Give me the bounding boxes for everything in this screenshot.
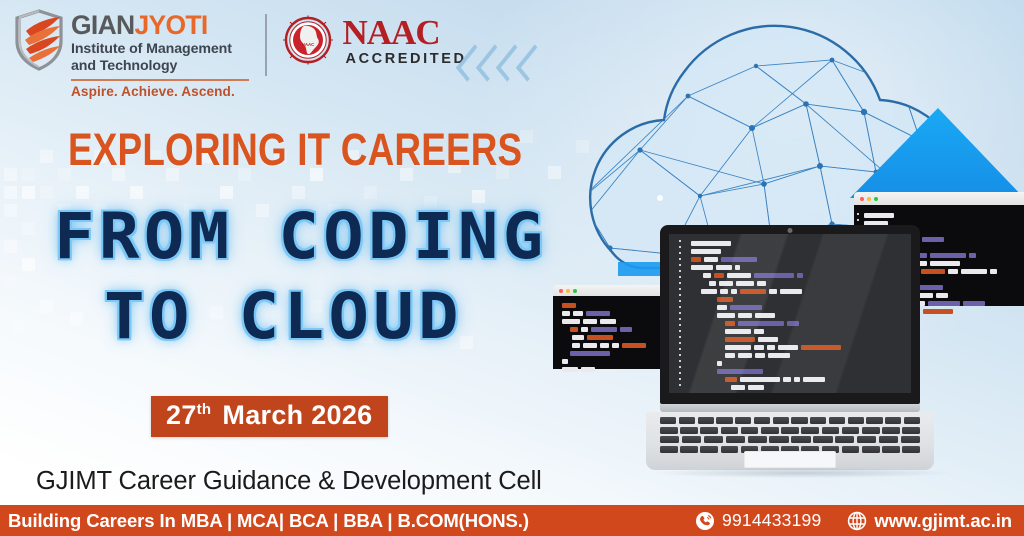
phone-circle-icon: [695, 511, 715, 531]
naac-text-block: NAAC ACCREDITED: [343, 16, 467, 67]
laptop-keyboard-deck: [646, 412, 934, 470]
website-url: www.gjimt.ac.in: [874, 510, 1012, 532]
line-number-gutter: [679, 240, 681, 387]
brand-text-block: GIANJYOTI Institute of Management and Te…: [71, 9, 249, 99]
svg-text:NAAC: NAAC: [301, 42, 315, 47]
title-line-1: FROM CODING: [54, 206, 595, 268]
brand-divider-rule: [71, 79, 249, 81]
chevron-left-icon: [476, 44, 506, 82]
programs-text: Building Careers In MBA | MCA| BCA | BBA…: [8, 510, 529, 532]
event-day: 27: [166, 400, 197, 430]
shield-wings-icon: [14, 9, 64, 71]
title-line-2: TO CLOUD: [104, 286, 592, 348]
trackpad: [744, 451, 836, 468]
event-date-badge: 27thMarch 2026: [151, 396, 388, 437]
institute-branding: GIANJYOTI Institute of Management and Te…: [14, 9, 467, 99]
brand-subtitle-line1: Institute of Management: [71, 41, 249, 58]
naac-accreditation: NAAC NAAC ACCREDITED: [282, 9, 467, 67]
event-month-year: March 2026: [222, 400, 372, 430]
laptop-shadow: [652, 468, 952, 478]
laptop-screen: [669, 234, 911, 393]
naac-accredited-label: ACCREDITED: [343, 52, 467, 67]
close-dot-icon: [860, 197, 864, 201]
brand-tagline: Aspire. Achieve. Ascend.: [71, 84, 249, 99]
globe-icon: [847, 511, 867, 531]
website-contact[interactable]: www.gjimt.ac.in: [847, 510, 1012, 532]
contact-group: 9914433199 www.gjimt.ac.in: [695, 510, 1012, 532]
naac-word: NAAC: [343, 16, 467, 49]
footer-bar: Building Careers In MBA | MCA| BCA | BBA…: [0, 505, 1024, 536]
phone-number: 9914433199: [722, 510, 821, 531]
vertical-divider: [265, 14, 267, 76]
minimize-dot-icon: [867, 197, 871, 201]
brand-subtitle-line2: and Technology: [71, 58, 249, 75]
event-day-suffix: th: [197, 401, 212, 418]
laptop-lid: [660, 225, 920, 404]
event-banner: GIANJYOTI Institute of Management and Te…: [0, 0, 1024, 536]
webcam-icon: [788, 228, 793, 233]
main-title: FROM CODING TO CLOUD: [0, 206, 560, 347]
window-title-bar: [854, 192, 1024, 205]
kicker-text: EXPLORING IT CAREERS: [68, 124, 522, 176]
laptop-with-code-editor: [660, 225, 920, 470]
laptop-hinge: [660, 404, 920, 412]
brand-name: GIANJYOTI: [71, 12, 249, 39]
organizer-text: GJIMT Career Guidance & Development Cell: [36, 467, 542, 496]
keyboard: [660, 417, 920, 453]
phone-contact[interactable]: 9914433199: [695, 510, 821, 531]
maximize-dot-icon: [874, 197, 878, 201]
naac-seal-india-map-icon: NAAC: [282, 15, 334, 67]
code-area: [669, 234, 911, 393]
brand-subtitle: Institute of Management and Technology: [71, 41, 249, 76]
